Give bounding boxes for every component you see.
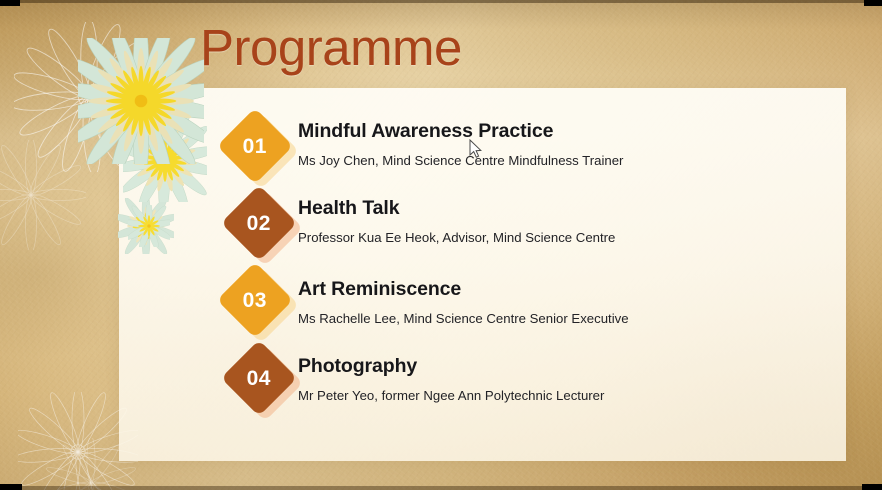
programme-number-badge: 03 (218, 264, 296, 342)
badge-number: 04 (247, 367, 271, 388)
waterlily-tiny-icon (128, 205, 170, 247)
programme-item-subtitle: Professor Kua Ee Heok, Advisor, Mind Sci… (298, 230, 615, 246)
outline-flower-mid-left-icon (0, 140, 86, 250)
presentation-slide: Programme 01 Mindful Awareness Practice … (0, 0, 882, 490)
programme-item-text: Mindful Awareness Practice Ms Joy Chen, … (298, 120, 623, 169)
letterbox-top-left (0, 0, 20, 6)
letterbox-top-right (864, 0, 882, 6)
programme-number-badge: 02 (222, 187, 300, 265)
badge-diamond: 03 (217, 262, 293, 338)
badge-diamond: 04 (221, 340, 297, 416)
badge-diamond: 02 (221, 185, 297, 261)
badge-number: 03 (243, 289, 267, 310)
programme-item-text: Photography Mr Peter Yeo, former Ngee An… (298, 355, 604, 404)
top-edge-bar (0, 0, 882, 3)
programme-item-subtitle: Ms Rachelle Lee, Mind Science Centre Sen… (298, 311, 629, 327)
programme-number-badge: 04 (222, 342, 300, 420)
bottom-edge-bar (0, 486, 882, 490)
letterbox-bottom-right (862, 484, 882, 490)
programme-item-text: Health Talk Professor Kua Ee Heok, Advis… (298, 197, 615, 246)
programme-number-badge: 01 (218, 110, 296, 188)
badge-number: 01 (243, 135, 267, 156)
programme-item-text: Art Reminiscence Ms Rachelle Lee, Mind S… (298, 278, 629, 327)
waterlily-large-icon (78, 38, 204, 164)
programme-item-title: Art Reminiscence (298, 278, 629, 300)
programme-item-title: Photography (298, 355, 604, 377)
badge-number: 02 (247, 212, 271, 233)
programme-item-subtitle: Mr Peter Yeo, former Ngee Ann Polytechni… (298, 388, 604, 404)
letterbox-bottom-left (0, 484, 22, 490)
badge-diamond: 01 (217, 108, 293, 184)
programme-item-title: Mindful Awareness Practice (298, 120, 623, 142)
page-title: Programme (200, 21, 462, 75)
programme-item-subtitle: Ms Joy Chen, Mind Science Centre Mindful… (298, 153, 623, 169)
programme-item-title: Health Talk (298, 197, 615, 219)
